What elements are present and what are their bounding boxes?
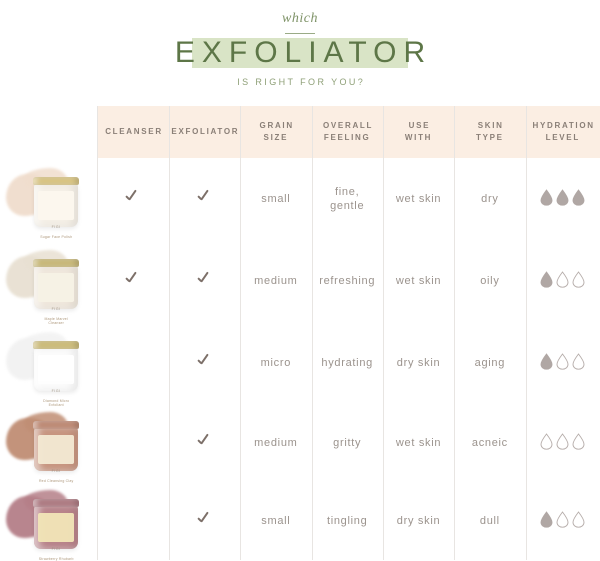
cell-skin-type: oily — [454, 240, 525, 322]
cell-hydration-level — [526, 322, 600, 404]
cell-use-with: wet skin — [383, 404, 454, 482]
table-row[interactable]: FIGISugar Face Polishsmallfine,gentlewet… — [0, 158, 600, 240]
product-image-beige-jar-gold-lid: FIGIMaple Marvel Cleanser — [0, 242, 97, 320]
column-header-overall-feeling: OVERALLFEELING — [312, 106, 383, 158]
cell-product: FIGIStrawberry Rhubarb — [0, 482, 97, 560]
cell-skin-type: dry — [454, 158, 525, 240]
cell-hydration-level — [526, 404, 600, 482]
product-brand-text: FIGI — [38, 225, 74, 229]
droplet-empty-icon — [540, 433, 553, 450]
droplet-filled-icon — [540, 511, 553, 528]
column-header-grain-size: GRAINSIZE — [240, 106, 311, 158]
product-jar-lid — [33, 499, 79, 507]
droplet-empty-icon — [572, 353, 585, 370]
cell-grain-size: small — [240, 158, 311, 240]
cell-cleanser — [97, 158, 168, 240]
product-brand-text: FIGI — [38, 469, 74, 473]
checkmark-icon — [197, 189, 213, 205]
hydration-droplet-group — [540, 511, 585, 528]
cell-use-with: wet skin — [383, 240, 454, 322]
hydration-droplet-group — [540, 353, 585, 370]
page-title: EXFOLIATOR — [0, 36, 600, 70]
cell-exfoliator — [169, 482, 240, 560]
hydration-droplet-group — [540, 189, 585, 206]
cell-cleanser — [97, 482, 168, 560]
header-divider-rule — [285, 33, 315, 34]
cell-cleanser — [97, 404, 168, 482]
checkmark-icon — [125, 189, 141, 205]
product-jar-lid — [33, 259, 79, 267]
product-image-white-jar-gold-lid: FIGIDiamond Micro Exfoliant — [0, 324, 97, 402]
droplet-filled-icon — [540, 353, 553, 370]
droplet-filled-icon — [572, 189, 585, 206]
product-name-text: Sugar Face Polish — [38, 235, 74, 239]
cell-cleanser — [97, 322, 168, 404]
checkmark-icon — [197, 433, 213, 449]
header-eyebrow: which — [0, 11, 600, 27]
product-jar-lid — [33, 421, 79, 429]
product-label: FIGISugar Face Polish — [38, 191, 74, 220]
cell-hydration-level — [526, 158, 600, 240]
comparison-table: CLEANSER EXFOLIATOR GRAINSIZE OVERALLFEE… — [0, 106, 600, 560]
cell-skin-type: dull — [454, 482, 525, 560]
product-brand-text: FIGI — [38, 307, 74, 311]
checkmark-icon — [197, 271, 213, 287]
cell-hydration-level — [526, 240, 600, 322]
product-image-clay-jar-terracotta: FIGIRed Cleansing Clay — [0, 404, 97, 482]
cell-exfoliator — [169, 404, 240, 482]
cell-overall-feeling: fine,gentle — [312, 158, 383, 240]
droplet-empty-icon — [556, 271, 569, 288]
column-header-hydration-level: HYDRATIONLEVEL — [526, 106, 600, 158]
cell-overall-feeling: refreshing — [312, 240, 383, 322]
comparison-table-wrapper: CLEANSER EXFOLIATOR GRAINSIZE OVERALLFEE… — [0, 106, 600, 558]
cell-product: FIGIMaple Marvel Cleanser — [0, 240, 97, 322]
cell-grain-size: small — [240, 482, 311, 560]
product-brand-text: FIGI — [38, 547, 74, 551]
cell-hydration-level — [526, 482, 600, 560]
cell-overall-feeling: hydrating — [312, 322, 383, 404]
cell-exfoliator — [169, 322, 240, 404]
cell-use-with: dry skin — [383, 322, 454, 404]
droplet-filled-icon — [540, 189, 553, 206]
table-row[interactable]: FIGIMaple Marvel Cleansermediumrefreshin… — [0, 240, 600, 322]
column-header-exfoliator: EXFOLIATOR — [169, 106, 240, 158]
checkmark-icon — [125, 271, 141, 287]
droplet-empty-icon — [572, 271, 585, 288]
cell-product: FIGIDiamond Micro Exfoliant — [0, 322, 97, 404]
droplet-empty-icon — [556, 353, 569, 370]
cell-product: FIGISugar Face Polish — [0, 158, 97, 240]
product-label: FIGIMaple Marvel Cleanser — [38, 273, 74, 302]
product-jar-lid — [33, 341, 79, 349]
column-header-use-with: USEWITH — [383, 106, 454, 158]
product-image-cream-jar-gold-lid: FIGISugar Face Polish — [0, 160, 97, 238]
product-label: FIGIStrawberry Rhubarb — [38, 513, 74, 542]
droplet-filled-icon — [540, 271, 553, 288]
page-header: which EXFOLIATOR IS RIGHT FOR YOU? — [0, 0, 600, 100]
cell-exfoliator — [169, 158, 240, 240]
cell-skin-type: acneic — [454, 404, 525, 482]
droplet-empty-icon — [556, 511, 569, 528]
hydration-droplet-group — [540, 271, 585, 288]
column-header-cleanser: CLEANSER — [97, 106, 168, 158]
cell-overall-feeling: tingling — [312, 482, 383, 560]
droplet-filled-icon — [556, 189, 569, 206]
cell-grain-size: medium — [240, 404, 311, 482]
cell-skin-type: aging — [454, 322, 525, 404]
table-row[interactable]: FIGIRed Cleansing Claymediumgrittywet sk… — [0, 404, 600, 482]
checkmark-icon — [197, 511, 213, 527]
cell-exfoliator — [169, 240, 240, 322]
product-brand-text: FIGI — [38, 389, 74, 393]
cell-grain-size: medium — [240, 240, 311, 322]
table-row[interactable]: FIGIStrawberry Rhubarbsmalltinglingdry s… — [0, 482, 600, 560]
table-row[interactable]: FIGIDiamond Micro Exfoliantmicrohydratin… — [0, 322, 600, 404]
page-subtitle: IS RIGHT FOR YOU? — [0, 77, 600, 87]
product-label: FIGIDiamond Micro Exfoliant — [38, 355, 74, 384]
product-label: FIGIRed Cleansing Clay — [38, 435, 74, 464]
table-header-row: CLEANSER EXFOLIATOR GRAINSIZE OVERALLFEE… — [0, 106, 600, 158]
column-header-product — [0, 106, 97, 158]
droplet-empty-icon — [556, 433, 569, 450]
cell-grain-size: micro — [240, 322, 311, 404]
checkmark-icon — [197, 353, 213, 369]
cell-use-with: dry skin — [383, 482, 454, 560]
hydration-droplet-group — [540, 433, 585, 450]
product-jar-lid — [33, 177, 79, 185]
droplet-empty-icon — [572, 433, 585, 450]
droplet-empty-icon — [572, 511, 585, 528]
product-image-rose-jar-pink: FIGIStrawberry Rhubarb — [0, 482, 97, 560]
table-body: FIGISugar Face Polishsmallfine,gentlewet… — [0, 158, 600, 560]
table-head: CLEANSER EXFOLIATOR GRAINSIZE OVERALLFEE… — [0, 106, 600, 158]
cell-overall-feeling: gritty — [312, 404, 383, 482]
cell-cleanser — [97, 240, 168, 322]
column-header-skin-type: SKINTYPE — [454, 106, 525, 158]
cell-use-with: wet skin — [383, 158, 454, 240]
cell-product: FIGIRed Cleansing Clay — [0, 404, 97, 482]
